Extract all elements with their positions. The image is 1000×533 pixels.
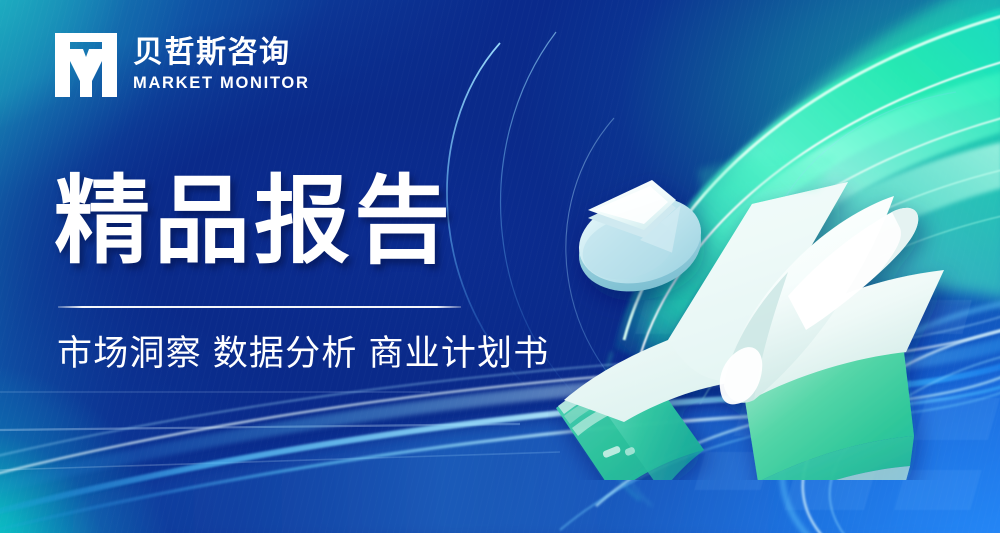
open-book-with-pie-chart-illustration xyxy=(548,150,968,480)
headline-divider xyxy=(58,306,461,308)
report-banner: 贝哲斯咨询 MARKET MONITOR 精品报告 市场洞察 数据分析 商业计划… xyxy=(0,0,1000,533)
company-name-cn: 贝哲斯咨询 xyxy=(133,36,310,70)
headline-subtitle: 市场洞察 数据分析 商业计划书 xyxy=(57,330,549,377)
market-monitor-m-logo-icon xyxy=(55,33,117,97)
brand-logo[interactable]: 贝哲斯咨询 MARKET MONITOR xyxy=(55,33,310,97)
headline-title: 精品报告 xyxy=(54,172,454,272)
company-name-en: MARKET MONITOR xyxy=(133,73,310,94)
book-group xyxy=(556,180,944,480)
brand-logo-text: 贝哲斯咨询 MARKET MONITOR xyxy=(133,36,310,94)
